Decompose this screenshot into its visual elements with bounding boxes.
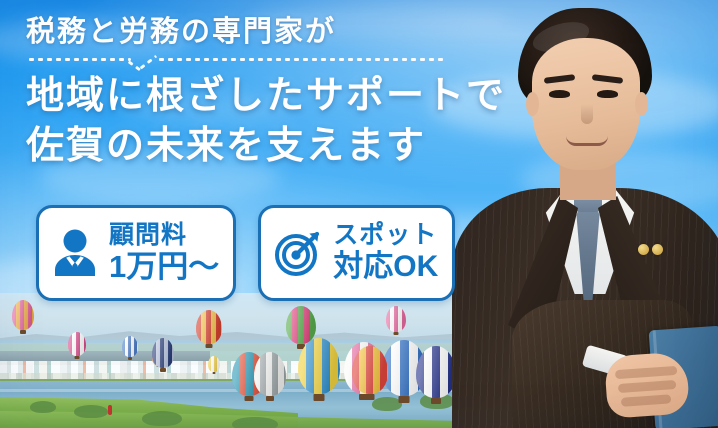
badge-advisory-fee-text: 顧問料 1万円～ xyxy=(109,223,219,283)
balloon-basket xyxy=(266,396,274,401)
balloon-envelope xyxy=(254,352,286,396)
badge-advisory-fee[interactable]: 顧問料 1万円～ xyxy=(36,205,236,301)
balloon-envelope xyxy=(122,336,138,357)
badge-spot-support-text: スポット 対応OK xyxy=(333,223,438,282)
headline-line-3: 佐賀の未来を支えます xyxy=(26,121,500,171)
dotted-segment-left xyxy=(27,58,131,61)
balloon-white-grey xyxy=(254,352,286,402)
balloon-yellow-mid xyxy=(208,356,220,375)
businessman-icon xyxy=(49,226,101,280)
balloon-envelope xyxy=(196,310,222,344)
balloon-navy-stripe xyxy=(152,338,174,372)
balloon-magenta-left xyxy=(68,332,86,359)
balloon-basket xyxy=(366,394,375,400)
balloon-basket xyxy=(206,344,213,348)
balloon-yellow-logo xyxy=(298,338,340,402)
badge-spot-support[interactable]: スポット 対応OK xyxy=(258,205,455,301)
balloon-envelope xyxy=(416,346,456,398)
balloon-basket xyxy=(75,356,80,359)
person-on-bank xyxy=(108,405,112,415)
target-arrow-icon xyxy=(271,226,325,280)
balloon-basket xyxy=(128,357,132,360)
balloon-basket xyxy=(20,330,26,334)
badge-advisory-fee-line-2: 1万円～ xyxy=(109,251,219,283)
balloon-basket xyxy=(394,332,399,335)
dotted-tail-up xyxy=(138,55,157,71)
mouth xyxy=(566,136,608,146)
badge-advisory-fee-line-1: 顧問料 xyxy=(109,223,219,249)
finger xyxy=(621,394,672,406)
feature-badges: 顧問料 1万円～ スポット 対応OK xyxy=(36,205,455,301)
finger xyxy=(618,380,676,393)
balloon-blue-dotted xyxy=(122,336,138,360)
badge-spot-support-line-2: 対応OK xyxy=(333,252,438,283)
shrub xyxy=(74,405,108,418)
lapel-pin xyxy=(652,244,663,255)
balloon-pink-high xyxy=(386,306,406,336)
balloon-basket xyxy=(314,394,325,401)
shrub xyxy=(142,411,182,426)
balloon-basket xyxy=(399,396,410,403)
balloon-envelope xyxy=(152,338,174,368)
hero-banner: 税務と労務の専門家が 地域に根ざしたサポートで 佐賀の未来を支えます 顧問料 xyxy=(0,0,718,428)
balloon-envelope xyxy=(386,306,406,332)
nose xyxy=(581,104,593,124)
dotted-segment-right xyxy=(157,58,447,61)
balloon-envelope xyxy=(208,356,220,372)
balloon-rainbow-right xyxy=(352,346,388,401)
hand xyxy=(604,351,690,419)
balloon-basket xyxy=(160,368,166,372)
shrub xyxy=(232,417,278,428)
ear-right xyxy=(635,92,648,116)
lapel-pin xyxy=(638,244,649,255)
dotted-underline xyxy=(27,55,447,69)
eye-left xyxy=(549,90,570,98)
balloon-basket xyxy=(213,372,216,374)
balloon-starred xyxy=(416,346,456,405)
headline-block: 税務と労務の専門家が 地域に根ざしたサポートで 佐賀の未来を支えます xyxy=(0,0,500,172)
ear-left xyxy=(526,92,539,116)
balloon-basket xyxy=(431,398,441,404)
balloon-red-top xyxy=(196,310,222,349)
eye-right xyxy=(597,90,618,98)
finger xyxy=(615,366,677,379)
shrub xyxy=(30,401,56,413)
balloon-pink-small xyxy=(12,300,34,334)
balloon-envelope xyxy=(12,300,34,330)
balloon-basket xyxy=(245,396,254,401)
headline-line-2: 地域に根ざしたサポートで xyxy=(26,71,500,121)
balloon-envelope xyxy=(298,338,340,394)
badge-spot-support-line-1: スポット xyxy=(333,223,438,249)
balloon-envelope xyxy=(68,332,86,356)
headline-line-1: 税務と労務の専門家が xyxy=(26,14,500,50)
balloon-envelope xyxy=(352,346,388,394)
